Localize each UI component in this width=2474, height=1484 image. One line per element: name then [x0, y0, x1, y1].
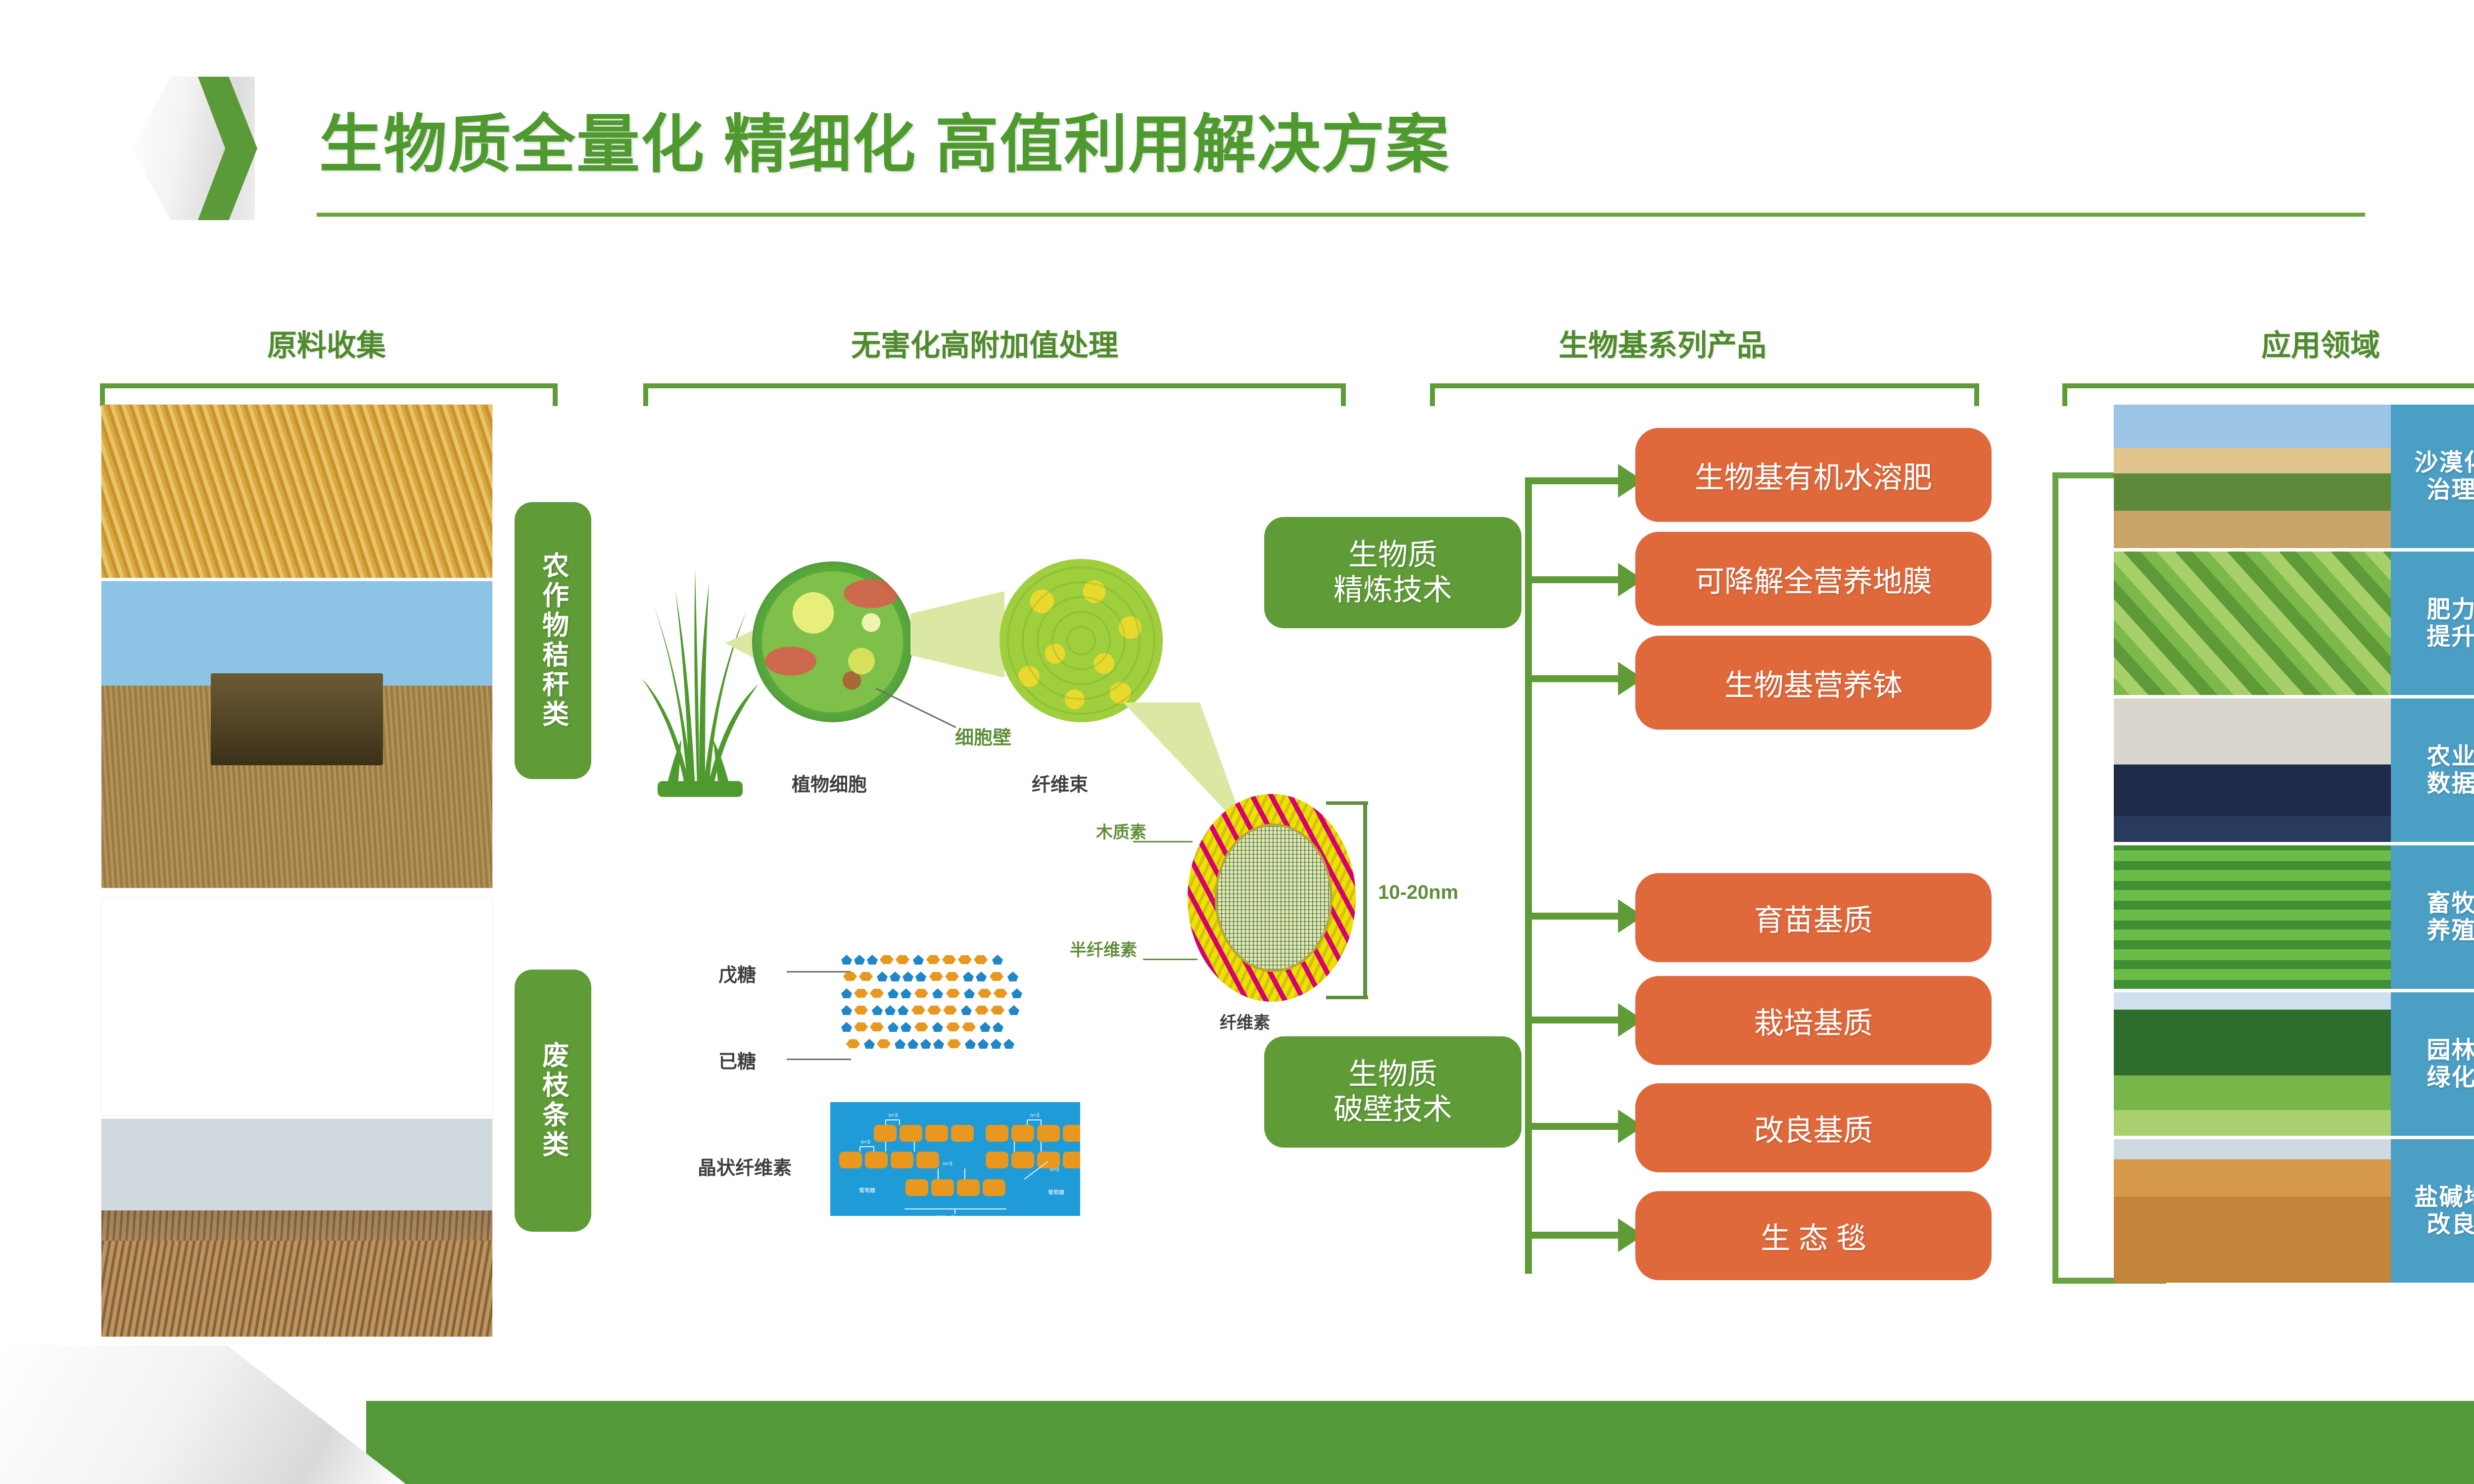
footer-wedge-decoration	[0, 1345, 406, 1484]
app-data-line1: 农业	[2426, 743, 2474, 770]
label-plant-cell: 植物细胞	[792, 769, 867, 796]
connector-branch-cellwall-2	[1525, 1017, 1619, 1023]
application-label-fertility: 肥力 提升	[2391, 552, 2474, 695]
label-fiber-dimension: 10-20nm	[1378, 881, 1458, 904]
cell-wall-leader-line	[875, 688, 956, 728]
sugar-chain-illustration	[841, 955, 1079, 1073]
cabbage-field-photo	[2114, 552, 2391, 695]
chevron-right-hexagon-icon	[131, 77, 255, 220]
connector-branch-cellwall-1	[1525, 913, 1619, 920]
crystalline-cellulose-panel: n=3n=3 n=3n=3 n=3 葡萄糖 葡萄糖 纤维二糖	[830, 1102, 1080, 1216]
application-row-agri-data[interactable]: 农业 数据	[2114, 698, 2474, 842]
title-underline-rule	[317, 213, 2365, 217]
application-row-desert-control[interactable]: 沙漠化 治理	[2114, 405, 2474, 548]
cellulose-core	[1215, 824, 1332, 972]
dimension-tick-bottom	[1326, 996, 1368, 999]
application-row-livestock[interactable]: 畜牧 养殖	[2114, 845, 2474, 989]
label-hexose: 已糖	[718, 1046, 756, 1073]
tech-refining-line1: 生物质	[1348, 538, 1437, 571]
app-data-line2: 数据	[2426, 770, 2474, 797]
tech-refining-line2: 精炼技术	[1333, 573, 1452, 606]
application-label-livestock: 畜牧 养殖	[2391, 845, 2474, 989]
app-fertility-line2: 提升	[2426, 623, 2474, 650]
section-title-raw-material: 原料收集	[148, 322, 505, 365]
application-label-desert-control: 沙漠化 治理	[2391, 405, 2474, 548]
raw-material-group-label-waste-branch: 废枝条类	[515, 970, 591, 1232]
label-hemicellulose: 半纤维素	[1070, 936, 1137, 961]
section-title-applications: 应用领域	[2098, 322, 2474, 365]
svg-text:n=3: n=3	[861, 1139, 870, 1145]
product-box-ecological-blanket[interactable]: 生 态 毯	[1635, 1191, 1992, 1280]
product-box-cultivation-substrate[interactable]: 栽培基质	[1635, 976, 1992, 1065]
section-bracket-processing	[643, 383, 1346, 406]
tech-cellwall-line1: 生物质	[1348, 1058, 1437, 1091]
product-box-nutrient-pot[interactable]: 生物基营养钵	[1635, 636, 1992, 730]
section-title-processing: 无害化高附加值处理	[643, 322, 1326, 365]
magnify-cone-cell-to-fiber	[910, 591, 1004, 678]
desert-control-photo	[2114, 405, 2391, 548]
svg-text:n=3: n=3	[1030, 1113, 1040, 1118]
orchard-pruning-collection-photo	[101, 1119, 492, 1337]
raw-material-group-label-crop-straw: 农作物秸秆类	[515, 502, 591, 779]
svg-text:葡萄糖: 葡萄糖	[1048, 1189, 1064, 1196]
application-label-agri-data: 农业 数据	[2391, 698, 2474, 842]
dimension-vertical-line	[1363, 801, 1367, 999]
footer-green-bar	[366, 1401, 2474, 1484]
application-row-fertility[interactable]: 肥力 提升	[2114, 552, 2474, 695]
product-box-water-soluble-fertilizer[interactable]: 生物基有机水溶肥	[1635, 428, 1992, 522]
landscape-greening-photo	[2114, 992, 2391, 1136]
plant-cell-illustration	[752, 561, 913, 722]
app-saline-line1: 盐碱地	[2414, 1184, 2474, 1211]
app-livestock-line2: 养殖	[2426, 917, 2474, 944]
section-bracket-raw-material	[100, 383, 558, 406]
app-livestock-line1: 畜牧	[2426, 890, 2474, 917]
label-cellulose: 纤维素	[1220, 1009, 1270, 1033]
section-title-bio-products: 生物基系列产品	[1405, 322, 1920, 365]
hemicellulose-leader-line	[1143, 959, 1197, 960]
label-crystalline-cellulose: 晶状纤维素	[698, 1153, 792, 1180]
agriculture-data-center-photo	[2114, 698, 2391, 842]
section-bracket-applications	[2062, 383, 2474, 406]
app-desert-line1: 沙漠化	[2414, 449, 2474, 476]
label-lignin: 木质素	[1096, 819, 1146, 843]
app-greening-line2: 绿化	[2426, 1064, 2474, 1091]
saline-alkali-land-photo	[2114, 1139, 2391, 1283]
connector-trunk-cellwall	[1525, 918, 1532, 1274]
tech-box-cell-wall[interactable]: 生物质 破壁技术	[1264, 1036, 1522, 1148]
connector-branch-cellwall-4	[1525, 1232, 1619, 1239]
svg-text:n=3: n=3	[1050, 1167, 1059, 1173]
connector-branch-refining-1	[1525, 477, 1619, 484]
dimension-tick-top	[1326, 801, 1368, 805]
application-row-greening[interactable]: 园林 绿化	[2114, 992, 2474, 1136]
straw-bale-field-photo	[101, 581, 492, 888]
connector-branch-refining-3	[1525, 675, 1619, 682]
tech-box-refining[interactable]: 生物质 精炼技术	[1264, 517, 1522, 628]
label-pentose: 戊糖	[718, 960, 756, 987]
connector-branch-cellwall-3	[1525, 1123, 1619, 1130]
label-cell-wall: 细胞壁	[955, 722, 1011, 749]
app-greening-line1: 园林	[2426, 1037, 2474, 1064]
grass-plant-icon	[636, 542, 764, 799]
tech-cellwall-line2: 破壁技术	[1333, 1093, 1452, 1126]
svg-text:n=3: n=3	[889, 1113, 898, 1118]
svg-text:n=3: n=3	[943, 1161, 952, 1167]
application-row-saline-land[interactable]: 盐碱地 改良	[2114, 1139, 2474, 1283]
connector-branch-refining-2	[1525, 576, 1619, 583]
pruned-branches-photo	[101, 898, 492, 1115]
section-bracket-bio-products	[1430, 383, 1979, 406]
grazing-sheep-photo	[2114, 845, 2391, 989]
fiber-bundle-illustration	[999, 559, 1163, 722]
corn-stalk-field-photo	[101, 405, 492, 578]
product-box-improvement-substrate[interactable]: 改良基质	[1635, 1083, 1992, 1172]
product-box-seedling-substrate[interactable]: 育苗基质	[1635, 873, 1992, 962]
slide-canvas: 生物质全量化 精细化 高值利用解决方案 原料收集 无害化高附加值处理 生物基系列…	[0, 0, 2474, 1484]
page-title: 生物质全量化 精细化 高值利用解决方案	[319, 93, 1450, 185]
product-box-biodegradable-mulch-film[interactable]: 可降解全营养地膜	[1635, 532, 1992, 626]
app-desert-line2: 治理	[2426, 476, 2474, 504]
app-saline-line2: 改良	[2426, 1211, 2474, 1238]
application-label-saline-land: 盐碱地 改良	[2391, 1139, 2474, 1283]
svg-text:葡萄糖: 葡萄糖	[859, 1187, 875, 1194]
app-fertility-line1: 肥力	[2426, 596, 2474, 623]
label-fiber-bundle: 纤维束	[1032, 769, 1088, 796]
application-label-greening: 园林 绿化	[2391, 992, 2474, 1136]
